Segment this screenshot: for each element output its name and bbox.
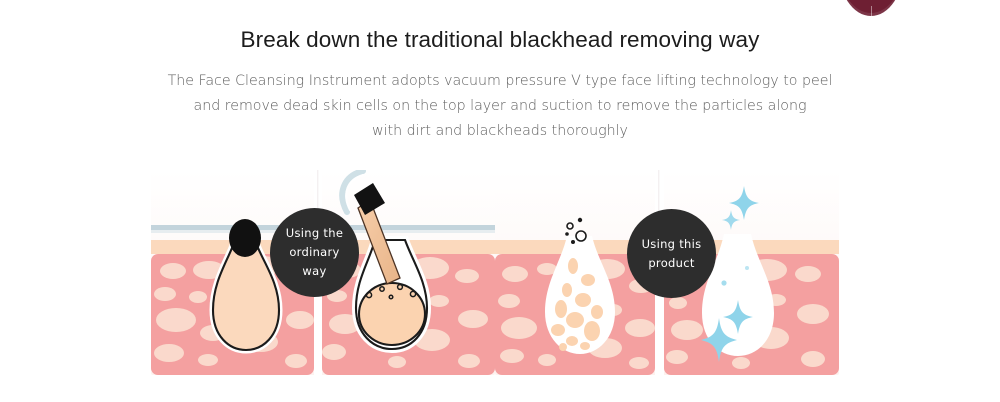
badge-ordinary-line-2: ordinary: [289, 243, 339, 262]
decorative-maroon-blob: [838, 0, 904, 16]
description-line-2: and remove dead skin cells on the top la…: [0, 94, 1000, 119]
badge-ordinary-way: Using the ordinary way: [270, 208, 359, 297]
description-line-1: The Face Cleansing Instrument adopts vac…: [0, 69, 1000, 94]
badge-ordinary-line-3: way: [302, 262, 326, 281]
description-paragraph: The Face Cleansing Instrument adopts vac…: [0, 69, 1000, 144]
badge-product-line-1: Using this: [642, 235, 702, 254]
badge-ordinary-line-1: Using the: [286, 224, 343, 243]
description-line-3: with dirt and blackheads thoroughly: [0, 119, 1000, 144]
illustration-area: [151, 170, 839, 375]
badge-using-product: Using this product: [627, 209, 716, 298]
page-title: Break down the traditional blackhead rem…: [0, 27, 1000, 53]
blackhead-plug-icon: [229, 219, 261, 257]
badge-product-line-2: product: [648, 254, 694, 273]
